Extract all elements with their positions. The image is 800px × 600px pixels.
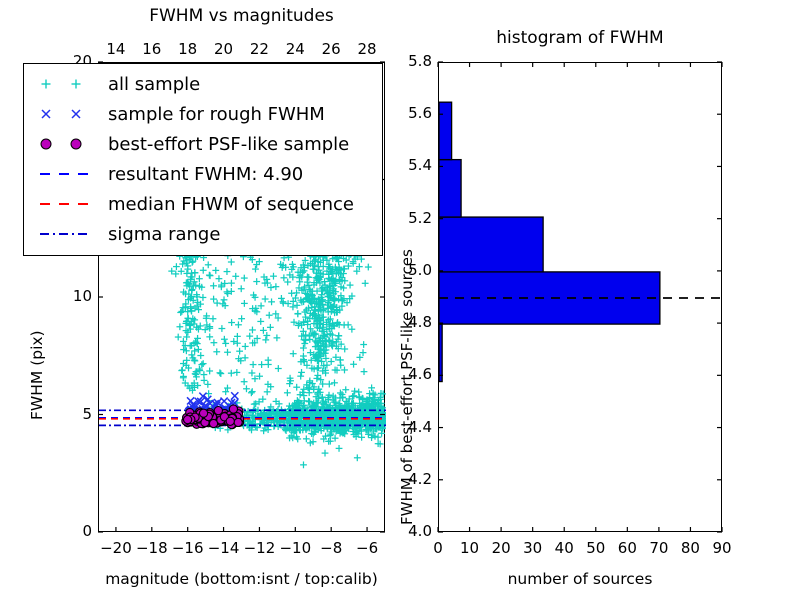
axis-ticklabel: 16 xyxy=(134,40,170,58)
legend-item[interactable]: median FHWM of sequence xyxy=(32,189,374,219)
axis-ticklabel: 5.8 xyxy=(390,52,432,70)
axis-ticklabel: 18 xyxy=(170,40,206,58)
filled-circle-marker xyxy=(32,132,106,156)
axis-ticklabel: 20 xyxy=(206,40,242,58)
axis-ticklabel: 5.6 xyxy=(390,104,432,122)
axis-ticklabel: −8 xyxy=(313,539,349,557)
legend-item-label: resultant FWHM: 4.90 xyxy=(106,164,303,185)
legend-item-label: median FHWM of sequence xyxy=(106,194,354,215)
histogram-axes[interactable] xyxy=(438,62,722,532)
legend-item-label: best-effort PSF-like sample xyxy=(106,134,349,155)
histogram-data-layer xyxy=(439,63,723,533)
axis-ticklabel: 5 xyxy=(52,405,92,423)
dashed-line xyxy=(32,192,106,216)
legend-item[interactable]: all sample xyxy=(32,69,374,99)
dashed-line xyxy=(32,162,106,186)
axis-ticklabel: −6 xyxy=(349,539,385,557)
axis-ticklabel: −18 xyxy=(134,539,170,557)
axis-ticklabel: 24 xyxy=(277,40,313,58)
axis-ticklabel: −20 xyxy=(98,539,134,557)
legend-item-label: sigma range xyxy=(106,224,220,245)
legend-item[interactable]: resultant FWHM: 4.90 xyxy=(32,159,374,189)
axis-ticklabel: 5.4 xyxy=(390,156,432,174)
scatter-y-axis-label: FWHM (pix) xyxy=(28,330,46,420)
histogram-x-axis-label: number of sources xyxy=(438,570,722,588)
axis-ticklabel: −16 xyxy=(170,539,206,557)
histogram-title: histogram of FWHM xyxy=(438,28,722,48)
scatter-x-axis-label: magnitude (bottom:isnt / top:calib) xyxy=(98,570,385,588)
dashdot-line xyxy=(32,222,106,246)
axis-ticklabel: −10 xyxy=(277,539,313,557)
plot-legend[interactable]: all samplesample for rough FWHMbest-effo… xyxy=(23,63,383,256)
axis-ticklabel: −12 xyxy=(241,539,277,557)
legend-item[interactable]: sigma range xyxy=(32,219,374,249)
axis-ticklabel: 90 xyxy=(704,539,740,557)
cross-marker xyxy=(32,102,106,126)
legend-item[interactable]: sample for rough FWHM xyxy=(32,99,374,129)
axis-ticklabel: 14 xyxy=(98,40,134,58)
axis-ticklabel: 5.2 xyxy=(390,209,432,227)
legend-item-label: all sample xyxy=(106,74,200,95)
axis-ticklabel: 26 xyxy=(313,40,349,58)
figure-canvas: FWHM vs magnitudes 1416182022242628 −20−… xyxy=(0,0,800,600)
legend-item-label: sample for rough FWHM xyxy=(106,104,325,125)
legend-item[interactable]: best-effort PSF-like sample xyxy=(32,129,374,159)
histogram-y-axis-label: FWHM of best-effort PSF-like sources xyxy=(398,249,416,525)
axis-ticklabel: −14 xyxy=(206,539,242,557)
axis-ticklabel: 28 xyxy=(349,40,385,58)
plus-marker xyxy=(32,72,106,96)
axis-ticklabel: 10 xyxy=(52,287,92,305)
axis-ticklabel: 0 xyxy=(52,522,92,540)
axis-ticklabel: 22 xyxy=(241,40,277,58)
scatter-plot-title: FWHM vs magnitudes xyxy=(98,6,385,26)
